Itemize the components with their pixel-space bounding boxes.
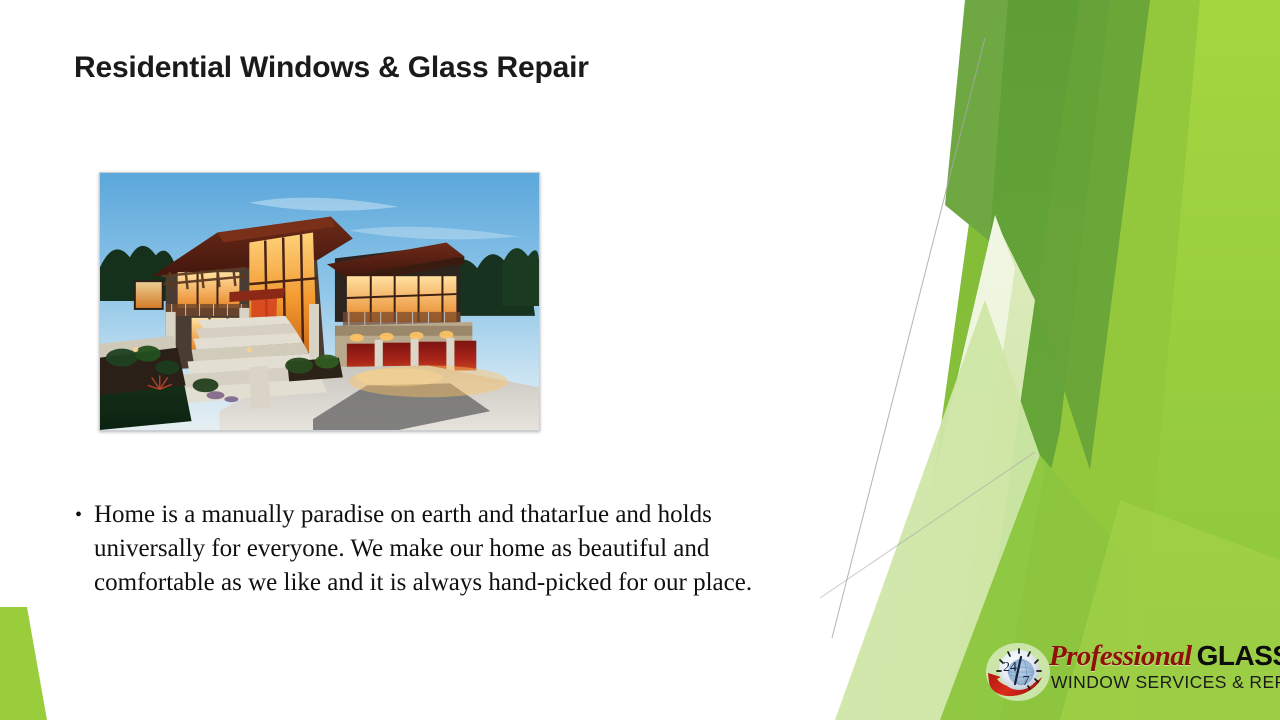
logo-24-7-globe-icon: 24 7 bbox=[985, 640, 1051, 702]
house-photo bbox=[99, 172, 540, 431]
logo-wordmark: ProfessionalGLASS WINDOW SERVICES & REPA… bbox=[1049, 640, 1271, 704]
slide-image-block bbox=[99, 172, 540, 431]
logo-script-word: Professional bbox=[1049, 640, 1192, 672]
logo-badge-7: 7 bbox=[1023, 674, 1030, 689]
slide-canvas: Residential Windows & Glass Repair bbox=[0, 0, 1280, 720]
logo-badge-24: 24 bbox=[1003, 660, 1017, 675]
list-item: • Home is a manually paradise on earth a… bbox=[70, 498, 830, 600]
body-text-block: • Home is a manually paradise on earth a… bbox=[70, 498, 830, 600]
page-title: Residential Windows & Glass Repair bbox=[74, 50, 834, 86]
logo-bold-word: GLASS bbox=[1197, 640, 1280, 671]
logo-tagline: WINDOW SERVICES & REPAIR bbox=[1051, 672, 1280, 693]
house-photo-artwork bbox=[100, 173, 539, 430]
list-item-text: Home is a manually paradise on earth and… bbox=[94, 498, 806, 600]
bullet-icon: • bbox=[70, 498, 94, 532]
company-logo[interactable]: 24 7 ProfessionalGLASS WINDOW SERVICES &… bbox=[985, 636, 1270, 708]
photo-reflection bbox=[101, 432, 542, 507]
